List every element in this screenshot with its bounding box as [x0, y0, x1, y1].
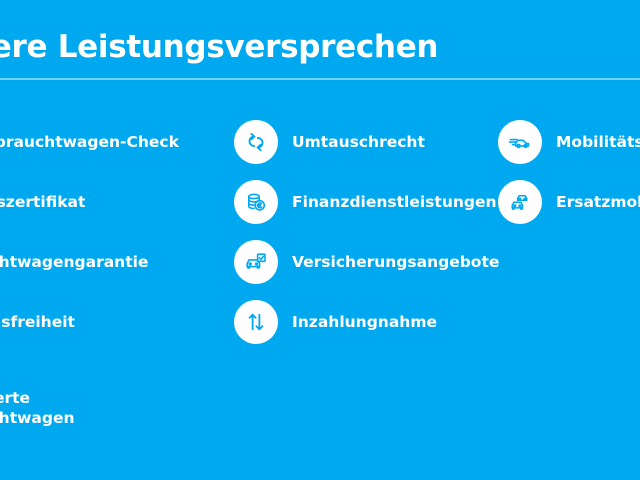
footer-caption-line-1: Zertifizierte: [0, 388, 226, 408]
car-speed-icon: [498, 120, 542, 164]
slide-stage: Unsere Leistungsversprechen 360° Gebrauc…: [0, 0, 640, 480]
feature-label: Wartungsfreiheit: [0, 313, 75, 332]
feature-label: 360° Gebrauchtwagen-Check: [0, 133, 179, 152]
list-item[interactable]: 360° Gebrauchtwagen-Check: [0, 112, 226, 172]
list-item[interactable]: Umtauschrecht: [234, 112, 502, 172]
exchange-arrows-icon: [234, 120, 278, 164]
feature-label: Finanzdienstleistungen: [292, 193, 497, 212]
feature-label: Qualitätszertifikat: [0, 193, 85, 212]
feature-label: Mobilitätsgarantie: [556, 133, 640, 152]
footer-caption: Zertifizierte Gebrauchtwagen: [0, 388, 226, 428]
promo-slide: Unsere Leistungsversprechen 360° Gebrauc…: [0, 0, 640, 480]
title-divider: [0, 78, 640, 80]
list-item[interactable]: Mobilitätsgarantie: [498, 112, 640, 172]
feature-label: Ersatzmobilität: [556, 193, 640, 212]
feature-label: Umtauschrecht: [292, 133, 425, 152]
up-down-arrows-icon: [234, 300, 278, 344]
page-title: Unsere Leistungsversprechen: [0, 28, 640, 66]
footer-caption-line-2: Gebrauchtwagen: [0, 408, 226, 428]
feature-label: Inzahlungnahme: [292, 313, 437, 332]
feature-column-1: 360° Gebrauchtwagen-Check Qualitätszerti…: [0, 112, 226, 352]
list-item[interactable]: Versicherungsangebote: [234, 232, 502, 292]
list-item[interactable]: Qualitätszertifikat: [0, 172, 226, 232]
feature-label: Gebrauchtwagengarantie: [0, 253, 148, 272]
feature-column-2: Umtauschrecht Fina: [234, 112, 502, 352]
list-item[interactable]: Wartungsfreiheit: [0, 292, 226, 352]
coins-euro-icon: [234, 180, 278, 224]
list-item[interactable]: Finanzdienstleistungen: [234, 172, 502, 232]
feature-label: Versicherungsangebote: [292, 253, 499, 272]
car-checkmark-icon: [234, 240, 278, 284]
list-item[interactable]: Inzahlungnahme: [234, 292, 502, 352]
list-item[interactable]: Ersatzmobilität: [498, 172, 640, 232]
features-grid: 360° Gebrauchtwagen-Check Qualitätszerti…: [0, 112, 640, 372]
feature-column-3: Mobilitätsgarantie: [498, 112, 640, 232]
list-item[interactable]: Gebrauchtwagengarantie: [0, 232, 226, 292]
two-cars-icon: [498, 180, 542, 224]
